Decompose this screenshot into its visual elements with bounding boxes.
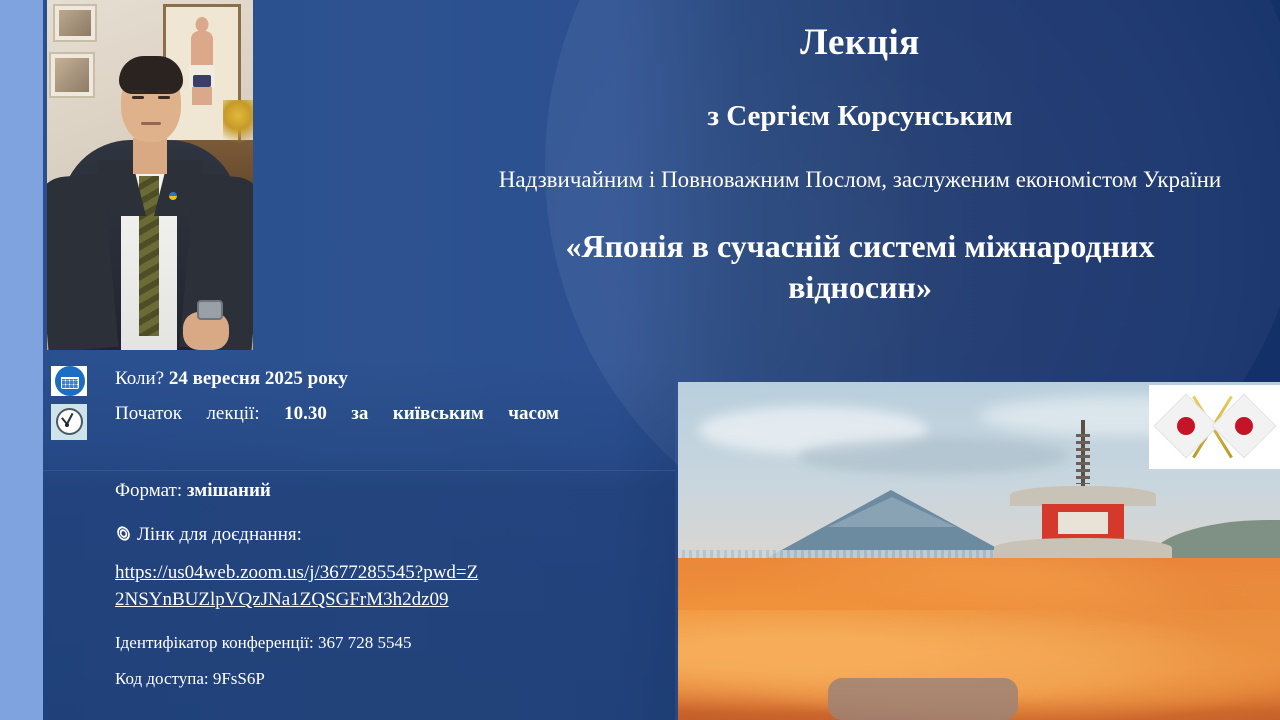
start-label: Початок лекції: [115,403,260,424]
portrait-neck [133,138,167,174]
when-value: 24 вересня 2025 року [169,368,348,389]
japan-flag-right [1211,393,1276,458]
detail-link-label: Лінк для доєднання: [43,504,643,548]
zoom-join-link[interactable]: https://us04web.zoom.us/j/3677285545?pwd… [115,562,478,610]
start-value: 10.30 за київським часом [284,403,559,424]
portrait-picture-frame-top [53,4,97,42]
japan-flag-left [1153,393,1218,458]
title-block: Лекція з Сергієм Корсунським Надзвичайни… [440,0,1280,370]
lecture-heading: Лекція [440,0,1280,65]
lecture-topic: «Японія в сучасній системі міжнародних в… [440,196,1280,308]
calendar-icon [51,366,87,396]
event-details: Коли? 24 вересня 2025 року Початок лекці… [43,362,643,691]
portrait-picture-frame-left [49,52,95,98]
portrait-flowers [223,100,253,152]
link-label-text: Лінк для доєднання: [137,524,302,545]
left-accent-strip [0,0,43,720]
pagoda-rocks [828,678,1018,720]
speaker-portrait-photo [47,0,253,350]
lecture-announcement-slide: Лекція з Сергієм Корсунським Надзвичайни… [0,0,1280,720]
paperclip-icon [115,524,135,544]
format-value: змішаний [187,480,271,501]
portrait-eye-left [132,96,144,99]
when-label: Коли? [115,368,164,389]
portrait-wristwatch [197,300,223,320]
detail-format: Формат: змішаний [43,454,643,504]
portrait-mouth [141,122,161,125]
detail-meeting-id: Ідентифікатор конференції: 367 728 5545 [43,614,643,654]
clock-icon [51,404,87,440]
portrait-ukraine-flag-pin [169,192,177,200]
detail-start-time: Початок лекції: 10.30 за київським часом [43,392,643,453]
mount-fuji-peak [828,497,956,527]
detail-passcode: Код доступа: 9FsS6P [43,654,643,690]
speaker-name: з Сергієм Корсунським [440,65,1280,134]
portrait-eyebrow-right [157,90,171,93]
crossed-japan-flags-icon [1149,385,1280,469]
portrait-hair [119,56,183,94]
format-label: Формат: [115,480,182,501]
detail-when: Коли? 24 вересня 2025 року [43,362,643,392]
speaker-role: Надзвичайним і Повноважним Послом, заслу… [440,133,1280,195]
sumo-figure [189,17,215,105]
portrait-eyebrow-left [131,90,145,93]
portrait-eye-right [158,96,170,99]
detail-link-url: https://us04web.zoom.us/j/3677285545?pwd… [43,548,643,614]
